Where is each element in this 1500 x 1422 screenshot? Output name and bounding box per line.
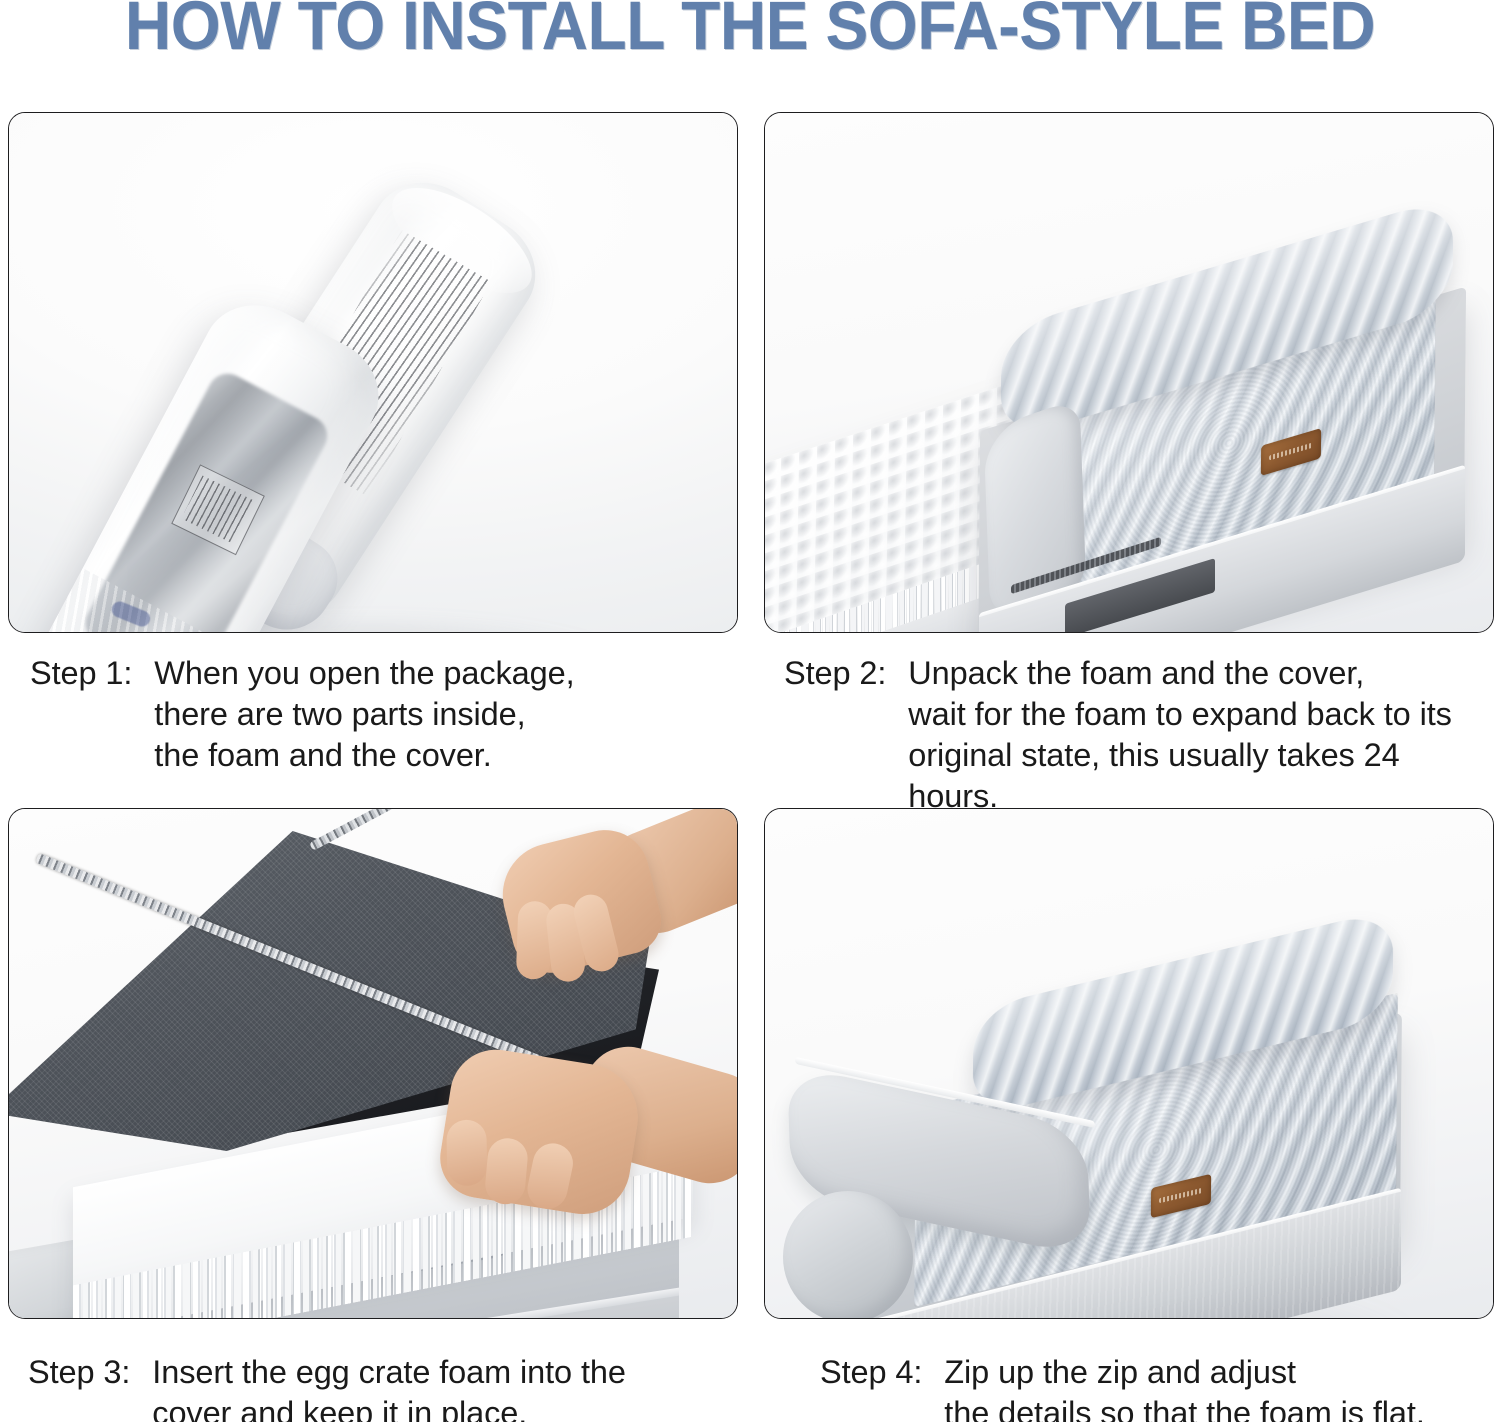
step-2-caption: Step 2: Unpack the foam and the cover, w… [784,653,1494,817]
step-4-photo [765,809,1493,1318]
step-1-photo [9,113,737,632]
step-4-text: Zip up the zip and adjust the details so… [944,1352,1500,1422]
step-1-caption: Step 1: When you open the package, there… [30,653,730,776]
step-4-caption: Step 4: Zip up the zip and adjust the de… [820,1352,1500,1422]
step-2-text: Unpack the foam and the cover, wait for … [908,653,1494,817]
step-3-photo [9,809,737,1318]
instruction-infographic: HOW TO INSTALL THE SOFA-STYLE BED [0,0,1500,1422]
step-2-photo [765,113,1493,632]
step-1-label: Step 1: [30,653,132,694]
step-4-label: Step 4: [820,1352,922,1393]
bed-armrest-end-cap [783,1191,913,1318]
step-1-image-panel [8,112,738,633]
finger [446,1119,487,1186]
step-1-text: When you open the package, there are two… [154,653,730,776]
step-4-image-panel [764,808,1494,1319]
step-2-label: Step 2: [784,653,886,694]
finger [524,1140,577,1213]
step-2-image-panel [764,112,1494,633]
step-3-caption: Step 3: Insert the egg crate foam into t… [28,1352,728,1422]
page-title: HOW TO INSTALL THE SOFA-STYLE BED [53,0,1448,62]
step-3-text: Insert the egg crate foam into the cover… [152,1352,728,1422]
step-3-image-panel [8,808,738,1319]
step-3-label: Step 3: [28,1352,130,1393]
finger [484,1137,530,1206]
